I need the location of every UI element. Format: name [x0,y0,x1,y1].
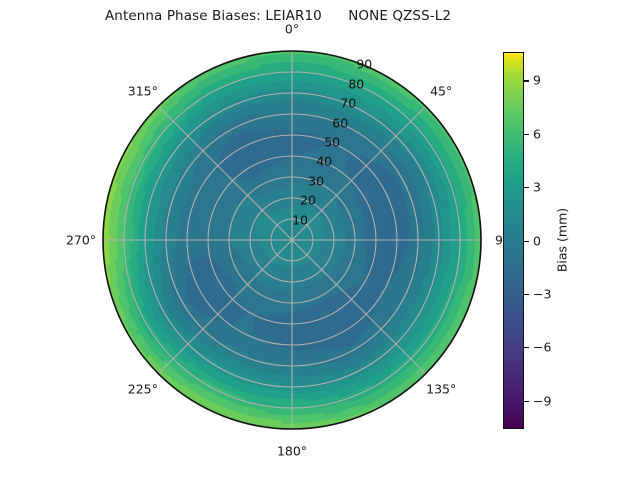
polar-grid [103,51,481,429]
figure-canvas: Antenna Phase Biases: LEIAR10 NONE QZSS-… [0,0,640,480]
azimuth-tick-0: 0° [285,22,299,37]
figure-title: Antenna Phase Biases: LEIAR10 NONE QZSS-… [0,8,556,24]
radial-tick-10: 10 [292,212,308,227]
colorbar-tick-label-0: 0 [533,233,541,248]
colorbar-gradient [503,52,524,429]
colorbar-tick-mark-0 [524,241,529,242]
colorbar-tick-label-9: 9 [533,73,541,88]
azimuth-tick-315: 315° [128,83,158,98]
colorbar-tick-mark-3 [524,187,529,188]
radial-tick-90: 90 [356,57,372,72]
colorbar: 9630−3−6−9 [503,52,524,429]
colorbar-tick-label--9: −9 [533,393,551,408]
radial-tick-60: 60 [332,115,348,130]
colorbar-tick-mark--3 [524,294,529,295]
polar-plot-svg [102,50,482,430]
radial-tick-30: 30 [308,173,324,188]
radial-tick-80: 80 [348,76,364,91]
colorbar-tick-mark-9 [524,80,529,81]
azimuth-tick-180: 180° [277,444,307,459]
azimuth-tick-135: 135° [426,382,456,397]
colorbar-tick-label--3: −3 [533,286,551,301]
colorbar-tick-label-6: 6 [533,126,541,141]
radial-tick-20: 20 [300,193,316,208]
azimuth-tick-225: 225° [128,382,158,397]
radial-tick-40: 40 [316,154,332,169]
colorbar-tick-mark-6 [524,134,529,135]
colorbar-tick-mark--9 [524,401,529,402]
azimuth-tick-270: 270° [66,233,96,248]
colorbar-tick-mark--6 [524,347,529,348]
radial-tick-50: 50 [324,134,340,149]
radial-tick-70: 70 [340,96,356,111]
colorbar-tick-label-3: 3 [533,180,541,195]
azimuth-tick-45: 45° [430,83,452,98]
colorbar-label: Bias (mm) [555,208,570,272]
polar-axes: 102030405060708090 [102,50,482,430]
colorbar-tick-label--6: −6 [533,340,551,355]
